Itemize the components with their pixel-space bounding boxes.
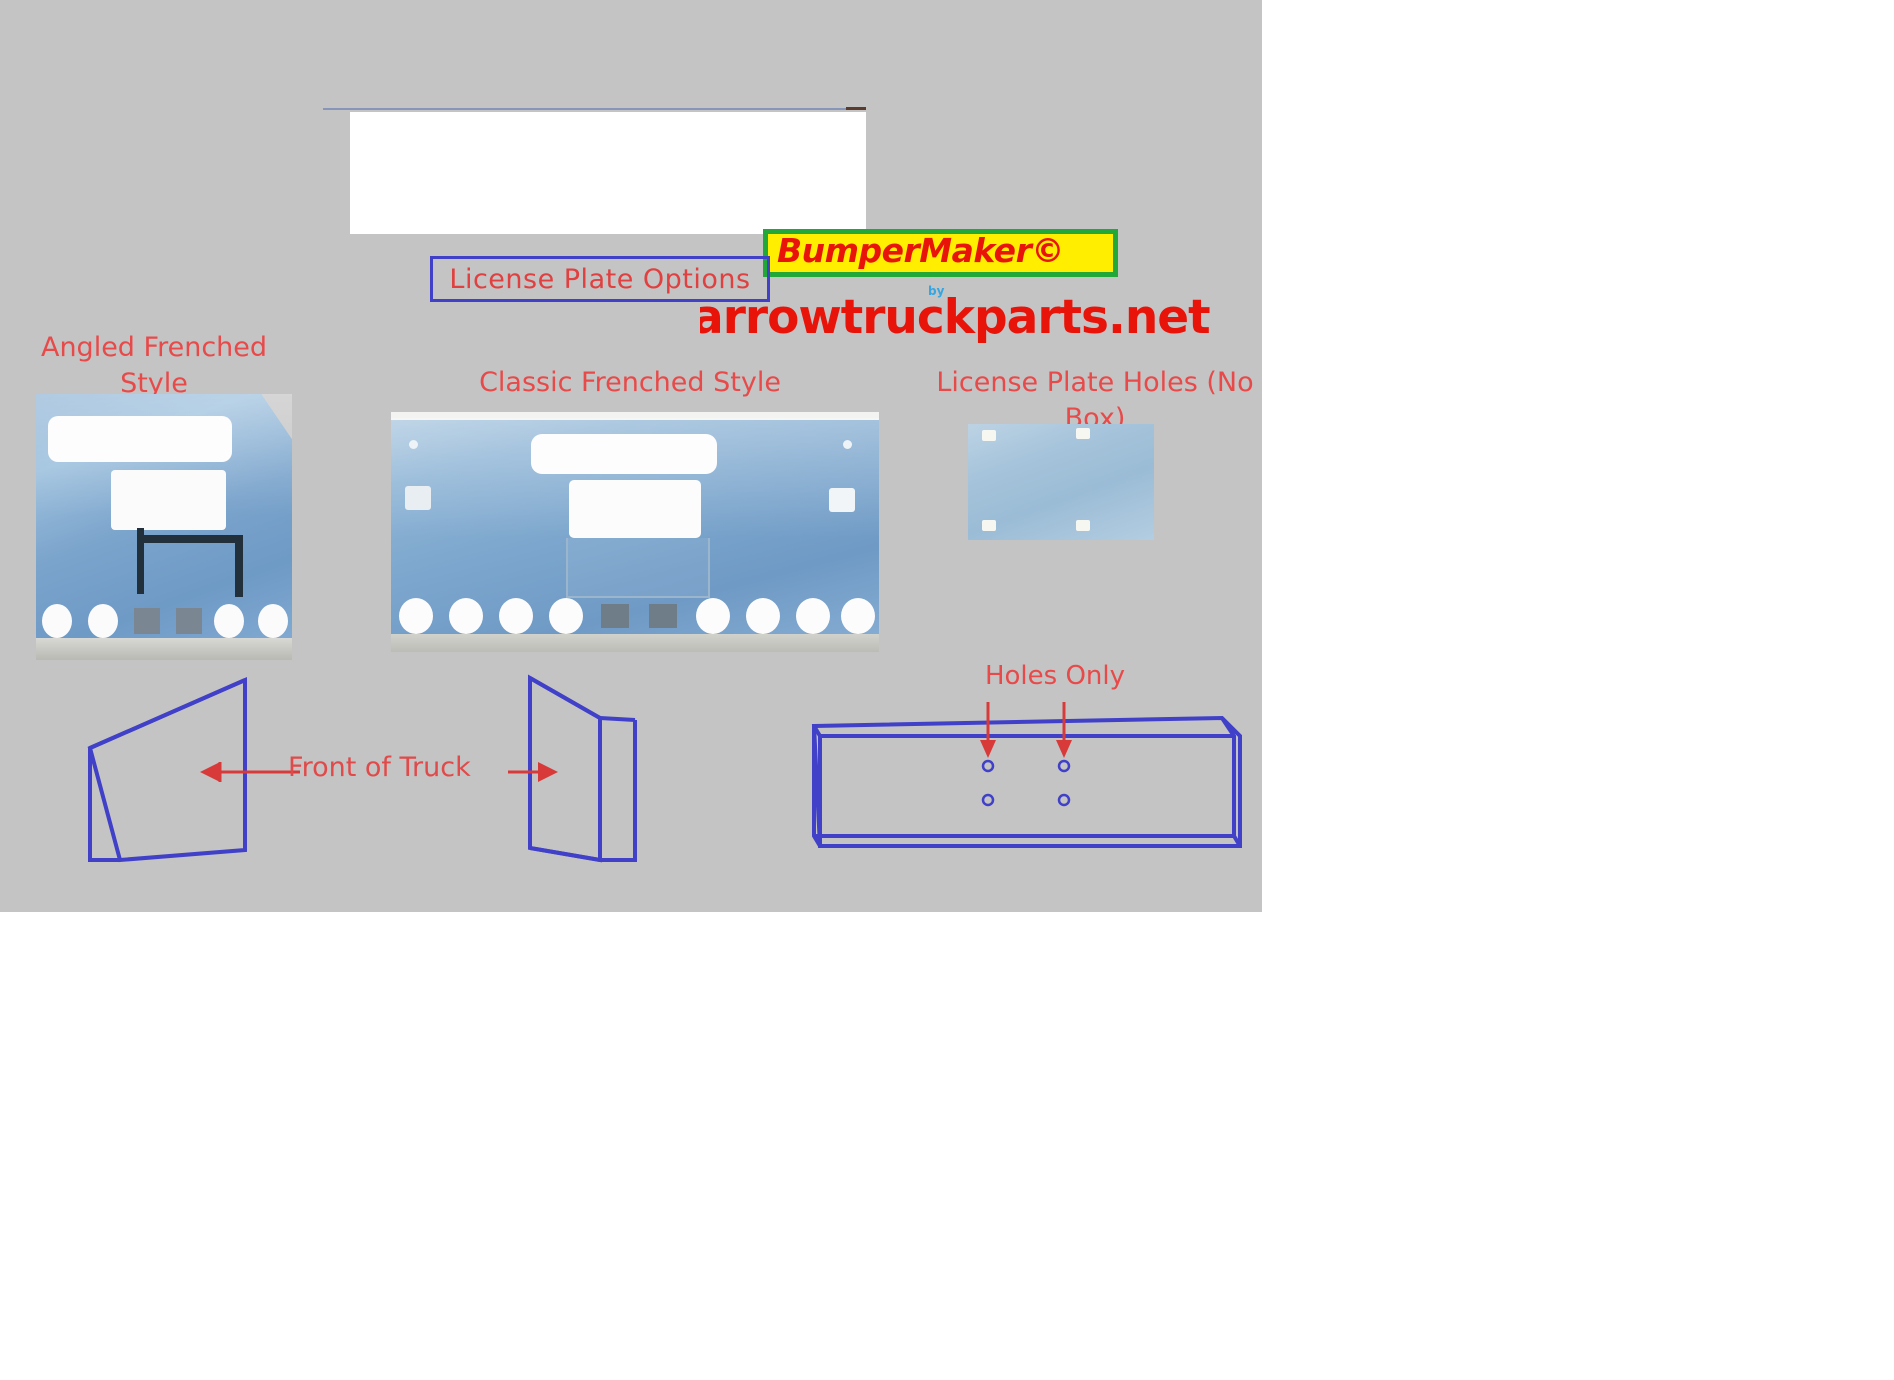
bumper-square-cutout-right <box>829 488 855 512</box>
front-of-truck-arrow-right <box>508 762 558 782</box>
plate-bracket-vertical-left <box>137 528 144 594</box>
brand-name-text: BumperMaker© <box>777 231 1064 270</box>
header-divider-rule-end <box>846 107 866 110</box>
bumper-hole <box>841 598 875 634</box>
license-plate-hole-marks <box>983 761 1069 805</box>
bumper-square-cutout <box>134 608 160 634</box>
bumper-bottom-edge <box>36 638 292 660</box>
bumper-square-cutout <box>176 608 202 634</box>
angled-frenched-profile <box>90 680 245 860</box>
plate-recess-upper <box>531 434 717 474</box>
bumper-hole <box>549 598 583 634</box>
page-title: License Plate Options <box>449 264 750 295</box>
brand-badge: BumperMaker© <box>763 229 1118 277</box>
bumper-hole <box>399 598 433 634</box>
photo-license-plate-holes <box>968 424 1154 540</box>
bumper-hole <box>88 604 118 638</box>
brand-domain-text: arrowtruckparts.net <box>700 296 1210 344</box>
photo-angled-frenched <box>36 394 292 660</box>
photo-classic-frenched <box>391 412 879 652</box>
slide-canvas: BumperMaker© by arrowtruckparts.net Lice… <box>0 0 1262 912</box>
bumper-box-outline <box>814 718 1240 846</box>
header-divider-rule <box>323 108 865 110</box>
bumper-holes-diagram <box>800 640 1260 870</box>
page-title-box: License Plate Options <box>430 256 770 302</box>
bumper-hole <box>42 604 72 638</box>
bumper-hole <box>258 604 288 638</box>
bumper-hole <box>696 598 730 634</box>
bumper-square-cutout <box>649 604 677 628</box>
plate-mount-hole <box>982 520 996 531</box>
bumper-square-cutout <box>601 604 629 628</box>
plate-mount-hole <box>1076 520 1090 531</box>
bumper-small-hole <box>409 440 418 449</box>
bumper-hole <box>746 598 780 634</box>
plate-mount-hole <box>982 430 996 441</box>
bumper-small-hole <box>843 440 852 449</box>
bumper-hole <box>214 604 244 638</box>
front-of-truck-arrow-left <box>200 762 300 782</box>
plate-box-frame <box>566 538 710 598</box>
bumper-square-cutout-left <box>405 486 431 510</box>
plate-recess-lower <box>111 470 226 530</box>
bumper-hole <box>499 598 533 634</box>
caption-classic-frenched: Classic Frenched Style <box>420 365 840 401</box>
plate-bracket-vertical-right <box>235 535 243 597</box>
caption-angled-frenched: Angled Frenched Style <box>8 330 300 402</box>
brand-domain-panel: arrowtruckparts.net <box>700 296 1216 344</box>
brand-logo-panel: BumperMaker© by arrowtruckparts.net <box>350 112 866 234</box>
plate-recess-upper <box>48 416 232 462</box>
plate-mount-hole <box>1076 428 1090 439</box>
holes-only-arrows <box>980 702 1072 758</box>
bumper-hole <box>796 598 830 634</box>
front-of-truck-label: Front of Truck <box>288 752 471 783</box>
plate-bracket-horizontal <box>137 535 243 543</box>
bumper-hole <box>449 598 483 634</box>
plate-recess-lower <box>569 480 701 538</box>
